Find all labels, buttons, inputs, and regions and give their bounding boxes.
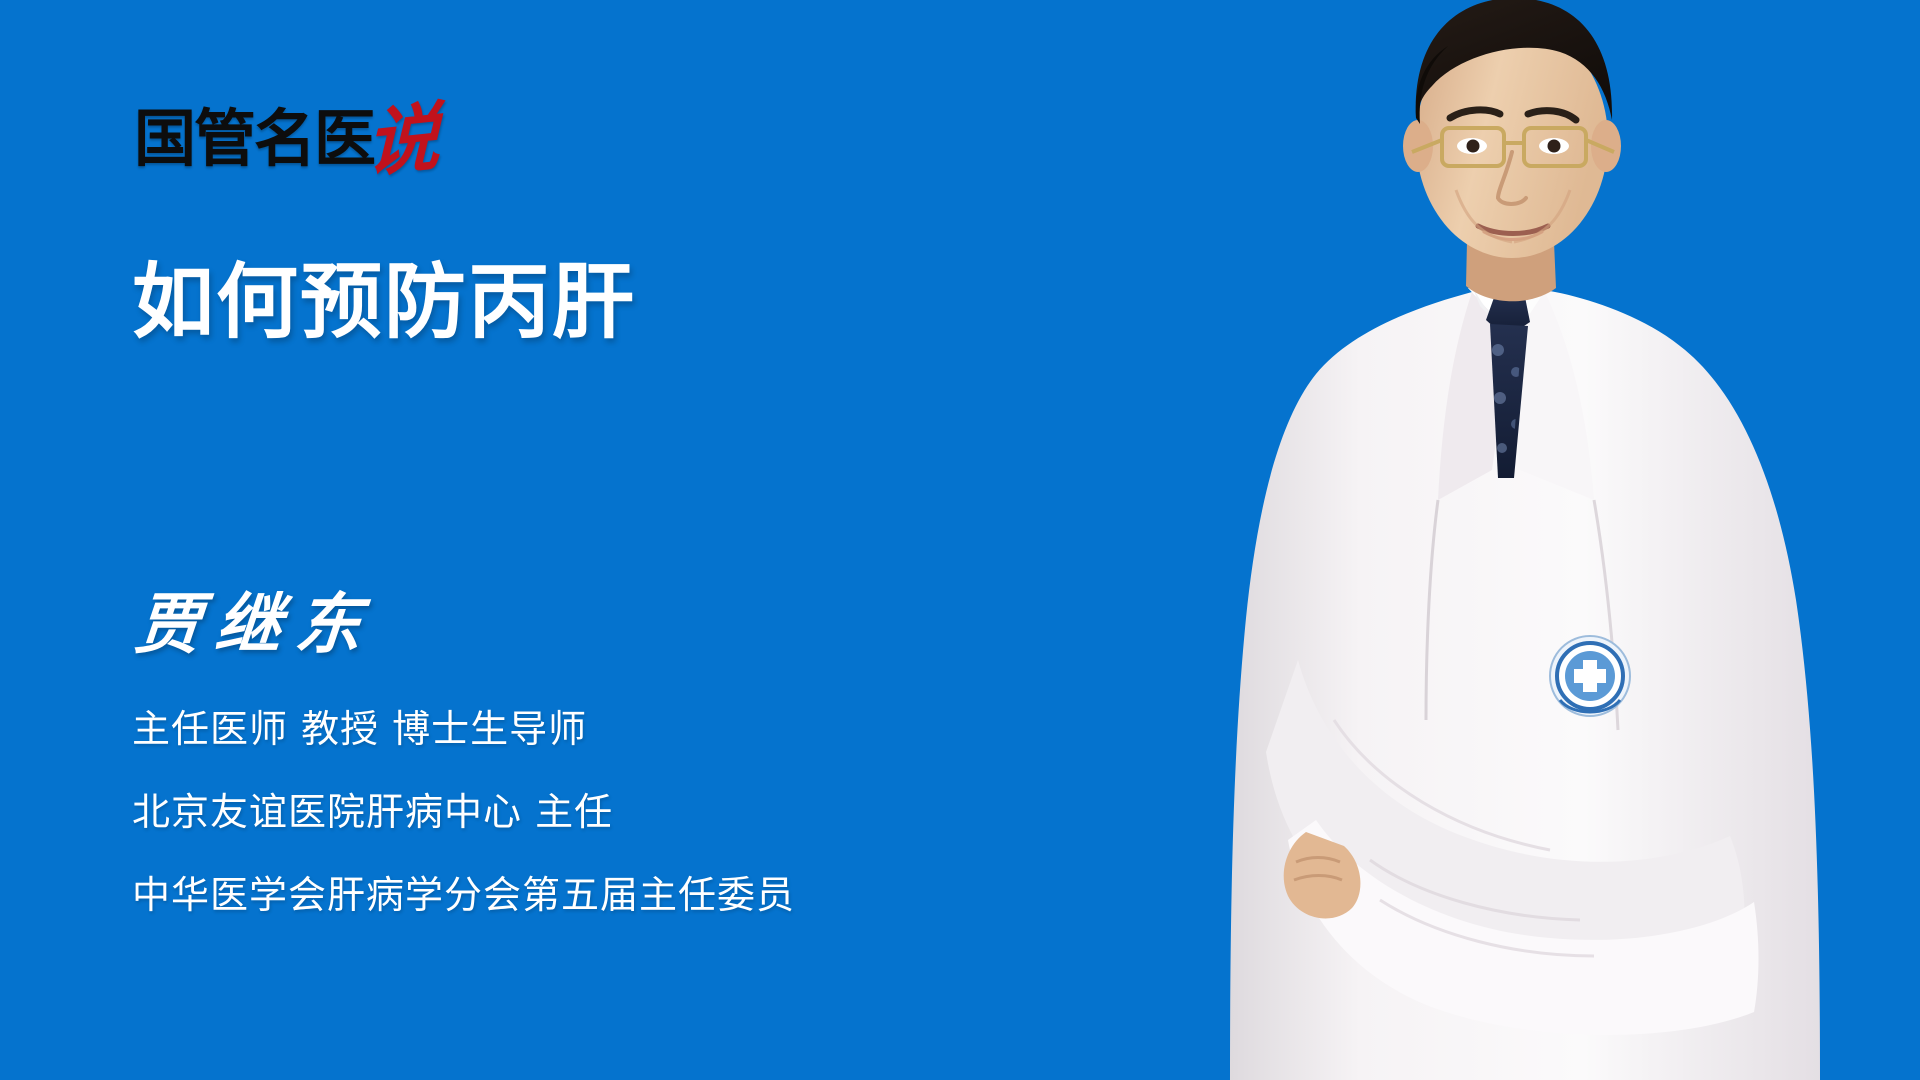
speaker-credentials: 主任医师 教授 博士生导师 北京友谊医院肝病中心 主任 中华医学会肝病学分会第五… <box>132 710 1112 914</box>
brand-logo: 国管名医 说 <box>134 108 440 170</box>
speaker-block: 贾继东 主任医师 教授 博士生导师 北京友谊医院肝病中心 主任 中华医学会肝病学… <box>132 585 1112 914</box>
brand-logo-accent-text: 说 <box>366 102 440 180</box>
credential-line: 北京友谊医院肝病中心 主任 <box>132 793 1112 831</box>
doctor-portrait-svg <box>1120 0 1920 1080</box>
credential-line: 主任医师 教授 博士生导师 <box>132 710 1112 748</box>
poster-canvas: 国管名医 说 如何预防丙肝 贾继东 主任医师 教授 博士生导师 北京友谊医院肝病… <box>0 0 1920 1080</box>
hospital-badge-icon <box>1550 636 1630 716</box>
page-title: 如何预防丙肝 <box>132 258 636 348</box>
credential-line: 中华医学会肝病学分会第五届主任委员 <box>132 876 1112 914</box>
brand-logo-main-text: 国管名医 <box>134 108 374 170</box>
speaker-name: 贾继东 <box>132 585 1119 664</box>
doctor-portrait-image <box>1120 0 1920 1080</box>
doctor-head <box>1403 0 1621 258</box>
